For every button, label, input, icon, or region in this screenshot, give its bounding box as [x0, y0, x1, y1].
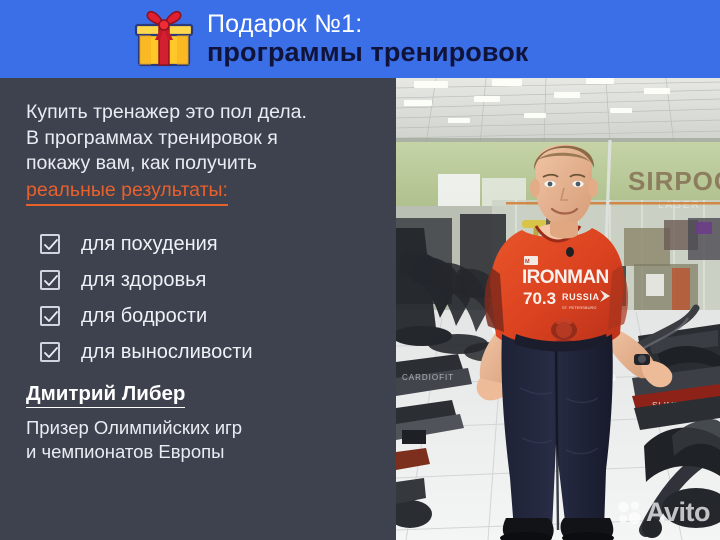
svg-text:CARDIOFIT: CARDIOFIT: [402, 373, 454, 382]
svg-text:RUSSIA: RUSSIA: [562, 292, 600, 302]
svg-text:M: M: [525, 259, 530, 265]
benefits-checklist: для похудения для здоровья для бодрости …: [26, 228, 396, 368]
svg-text:LASER: LASER: [658, 200, 701, 211]
left-text-panel: Купить тренажер это пол дела. В программ…: [0, 78, 396, 540]
checkmark-icon: [40, 234, 60, 254]
author-title-line-2: и чемпионатов Европы: [26, 440, 396, 464]
header-title-group: Подарок №1: программы тренировок: [207, 11, 528, 67]
list-item: для выносливости: [26, 336, 396, 368]
svg-text:ST. PETERSBURG: ST. PETERSBURG: [562, 305, 596, 310]
gym-photo: SIRPOCH LASER: [396, 78, 720, 540]
list-item: для похудения: [26, 228, 396, 260]
intro-line-3: покажу вам, как получить: [26, 151, 396, 177]
list-item: для здоровья: [26, 264, 396, 296]
intro-line-2: В программах тренировок я: [26, 126, 396, 152]
checkmark-icon: [40, 306, 60, 326]
author-title-line-1: Призер Олимпийских игр: [26, 416, 396, 440]
svg-text:SIRPOCH: SIRPOCH: [628, 166, 720, 196]
svg-text:70.3: 70.3: [523, 289, 556, 308]
author-name: Дмитрий Либер: [26, 382, 185, 408]
list-item: для бодрости: [26, 300, 396, 332]
author-credit: Дмитрий Либер Призер Олимпийских игр и ч…: [26, 382, 396, 464]
checkmark-icon: [40, 270, 60, 290]
highlight-text: реальные результаты:: [26, 178, 228, 207]
gift-icon: [133, 10, 195, 68]
list-item-label: для похудения: [81, 233, 218, 256]
header-banner: Подарок №1: программы тренировок: [0, 0, 720, 78]
header-title-line-1: Подарок №1:: [207, 11, 528, 37]
header-title-line-2: программы тренировок: [207, 38, 528, 66]
intro-paragraph: Купить тренажер это пол дела. В программ…: [26, 100, 396, 177]
list-item-label: для здоровья: [81, 269, 206, 292]
intro-line-1: Купить тренажер это пол дела.: [26, 100, 396, 126]
list-item-label: для выносливости: [81, 341, 253, 364]
svg-text:IRONMAN: IRONMAN: [522, 267, 609, 288]
list-item-label: для бодрости: [81, 305, 207, 328]
checkmark-icon: [40, 342, 60, 362]
